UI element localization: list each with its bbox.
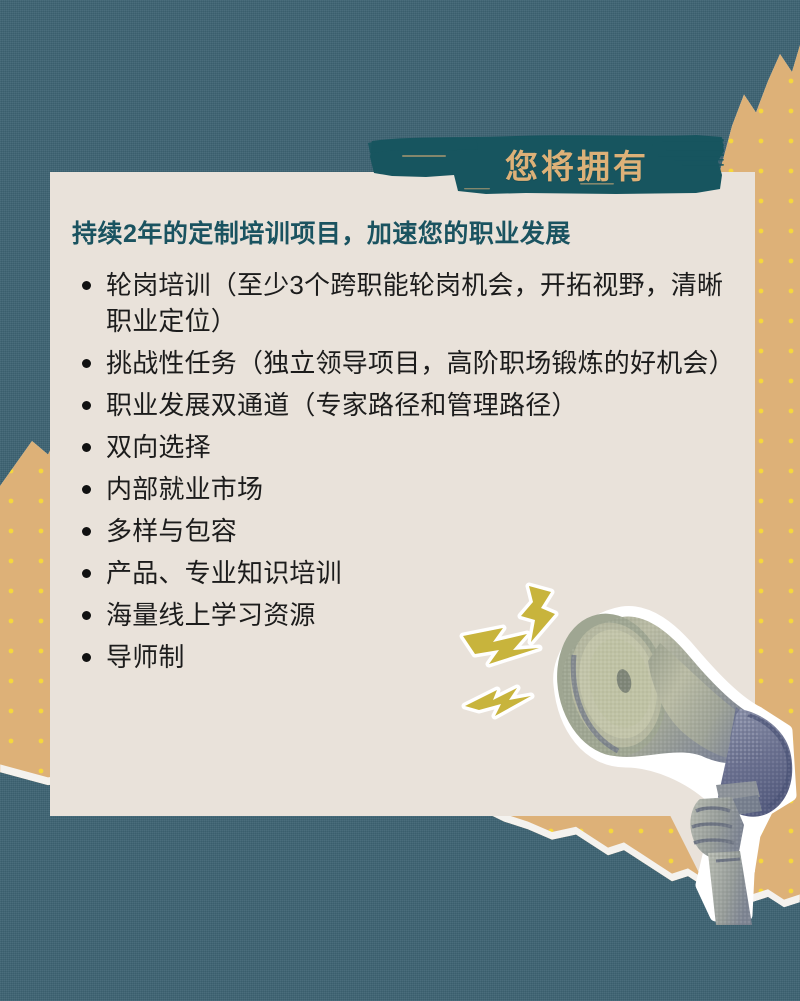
list-item: 内部就业市场 bbox=[72, 471, 732, 508]
banner-title-text: 您将拥有 bbox=[366, 131, 726, 197]
title-banner: 您将拥有 bbox=[366, 131, 726, 197]
subtitle: 持续2年的定制培训项目，加速您的职业发展 bbox=[72, 218, 732, 251]
list-item: 多样与包容 bbox=[72, 513, 732, 550]
list-item: 职业发展双通道（专家路径和管理路径） bbox=[72, 387, 732, 424]
list-item: 挑战性任务（独立领导项目，高阶职场锻炼的好机会） bbox=[72, 345, 732, 382]
list-item: 双向选择 bbox=[72, 429, 732, 466]
list-item: 轮岗培训（至少3个跨职能轮岗机会，开拓视野，清晰职业定位） bbox=[72, 267, 732, 341]
lightning-bolt-icon bbox=[463, 628, 539, 664]
poster-canvas: 您将拥有 持续2年的定制培训项目，加速您的职业发展 轮岗培训（至少3个跨职能轮岗… bbox=[0, 0, 800, 1001]
megaphone-illustration bbox=[540, 585, 800, 925]
lightning-bolt-icon bbox=[465, 688, 531, 716]
